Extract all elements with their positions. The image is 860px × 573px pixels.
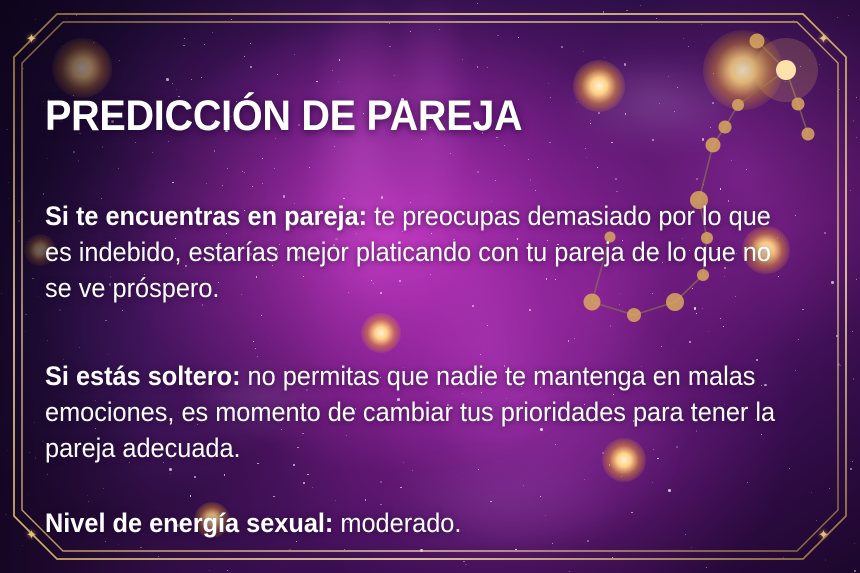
- paragraph-lead: Si estás soltero:: [45, 361, 241, 391]
- sparkle-icon-top-left: ✦: [26, 32, 37, 45]
- sparkle-icon-bottom-left: ✦: [26, 528, 37, 541]
- paragraph-energy-level: Nivel de energía sexual: moderado.: [45, 505, 785, 541]
- horoscope-prediction-card: ✦ ✦ ✦ ✦ PREDICCIÓN DE PAREJA Si te encue…: [0, 0, 860, 573]
- paragraph-lead: Nivel de energía sexual:: [45, 508, 333, 538]
- paragraph-body: moderado.: [333, 508, 461, 538]
- card-content: PREDICCIÓN DE PAREJA Si te encuentras en…: [45, 0, 835, 573]
- page-title: PREDICCIÓN DE PAREJA: [45, 92, 522, 141]
- paragraph-lead: Si te encuentras en pareja:: [45, 201, 367, 231]
- paragraph-in-relationship: Si te encuentras en pareja: te preocupas…: [45, 198, 785, 306]
- paragraph-single: Si estás soltero: no permitas que nadie …: [45, 358, 785, 466]
